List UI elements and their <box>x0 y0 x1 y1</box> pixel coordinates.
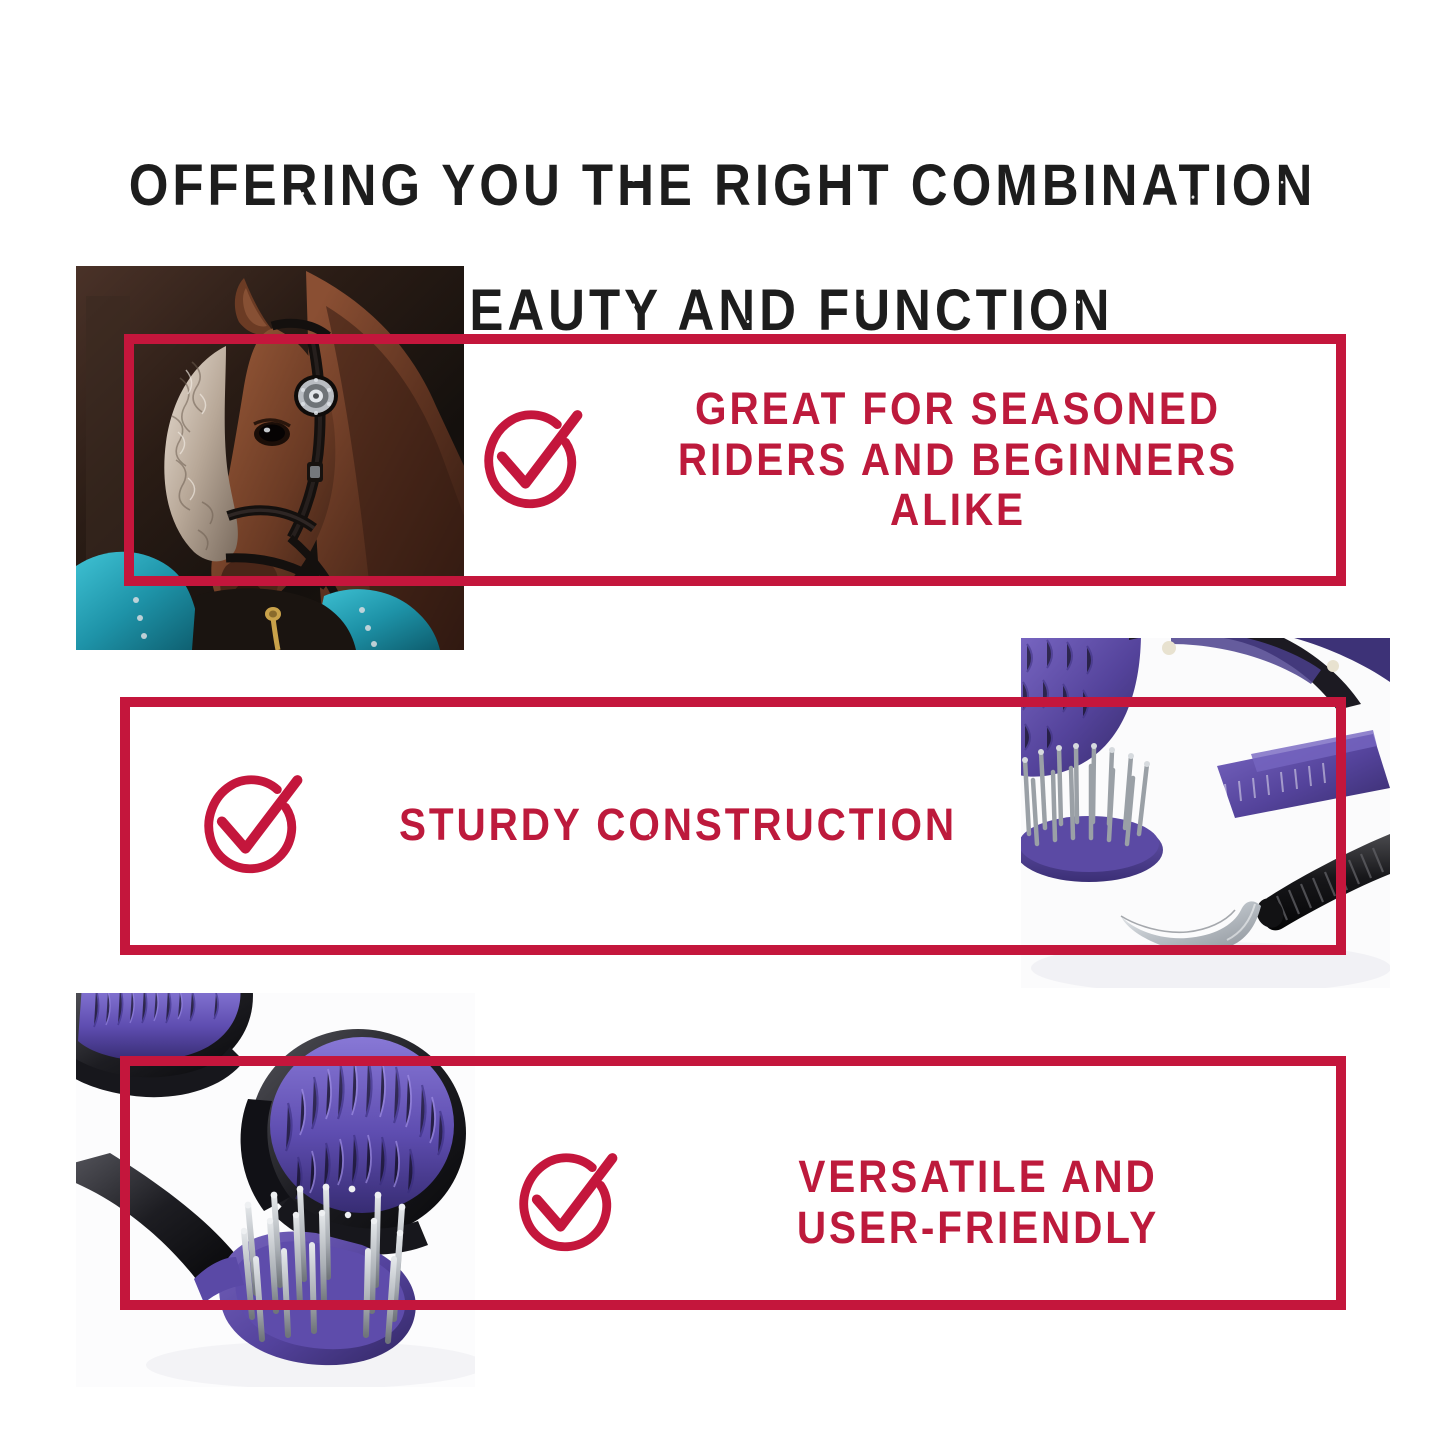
feature-label-3: VERSATILE AND USER-FRIENDLY <box>713 1152 1244 1253</box>
page-title-line-1: OFFERING YOU THE RIGHT COMBINATION <box>87 155 1359 218</box>
check-circle-icon <box>505 1144 623 1262</box>
feature-row-1: GREAT FOR SEASONED RIDERS AND BEGINNERS … <box>470 355 1340 565</box>
feature-label-2: STURDY CONSTRUCTION <box>399 800 957 850</box>
feature-row-3: VERSATILE AND USER-FRIENDLY <box>505 1095 1305 1310</box>
check-circle-icon <box>470 401 588 519</box>
infographic-canvas: OFFERING YOU THE RIGHT COMBINATION OF BE… <box>0 0 1445 1445</box>
feature-label-1: GREAT FOR SEASONED RIDERS AND BEGINNERS … <box>670 384 1246 535</box>
feature-row-2: STURDY CONSTRUCTION <box>190 710 1010 940</box>
check-circle-icon <box>190 766 308 884</box>
